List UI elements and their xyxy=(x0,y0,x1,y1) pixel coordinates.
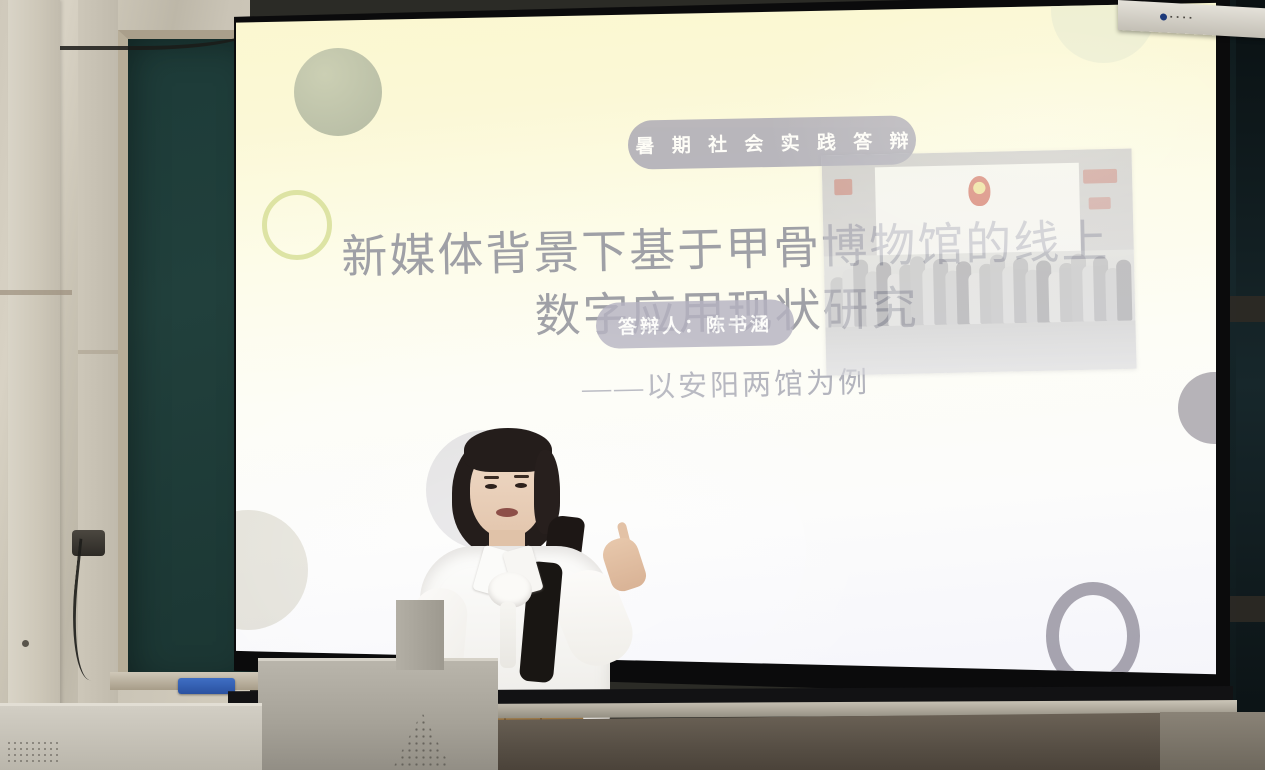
presenter-eye-left xyxy=(485,484,497,489)
photo-floor xyxy=(825,320,1136,375)
logo-dot-icon xyxy=(1160,13,1167,20)
photo-red-sign-left xyxy=(834,179,852,195)
photo-emblem-icon xyxy=(968,176,991,206)
wall-screw xyxy=(22,640,29,647)
photo-red-sign-right xyxy=(1082,169,1116,184)
decor-circle-left-icon xyxy=(236,510,308,630)
lectern-center xyxy=(258,658,498,770)
photo-people-row xyxy=(824,241,1136,327)
slide-group-photo xyxy=(822,149,1137,376)
projector-screen-surface: 暑 期 社 会 实 践 答 辩 新媒体背景下基于甲骨博物馆的线上 数字应用现状研… xyxy=(236,0,1216,706)
photo-red-sign-right-2 xyxy=(1089,197,1111,209)
wall-panel-seam xyxy=(0,290,72,295)
presentation-slide: 暑 期 社 会 实 践 答 辩 新媒体背景下基于甲骨博物馆的线上 数字应用现状研… xyxy=(236,0,1216,706)
blackboard-eraser xyxy=(178,678,235,694)
floor-right-corner xyxy=(1160,712,1265,770)
right-wall-trim xyxy=(1236,0,1265,770)
presenter-brow-right xyxy=(514,475,529,478)
photo-person xyxy=(1116,259,1132,320)
presenter-eye-right xyxy=(515,483,527,488)
wall-panel-seam-lower xyxy=(78,350,120,354)
presenter-brow-left xyxy=(484,476,499,479)
lectern-post xyxy=(396,600,444,670)
wall-pillar-strip xyxy=(8,0,60,770)
slide-presenter-label: 答辩人：陈书涵 xyxy=(618,309,773,339)
decor-circle-sage-icon xyxy=(294,48,382,136)
cabinet-speaker-grille-icon xyxy=(6,740,60,766)
presenter-bow-tail xyxy=(500,602,516,668)
presenter-mouth xyxy=(496,508,518,517)
screenshot-scene: 暑 期 社 会 实 践 答 辩 新媒体背景下基于甲骨博物馆的线上 数字应用现状研… xyxy=(0,0,1265,770)
slide-presenter-pill: 答辩人：陈书涵 xyxy=(596,299,795,349)
logo-text: ▪ ▪ ▪ ▪ xyxy=(1170,13,1193,21)
